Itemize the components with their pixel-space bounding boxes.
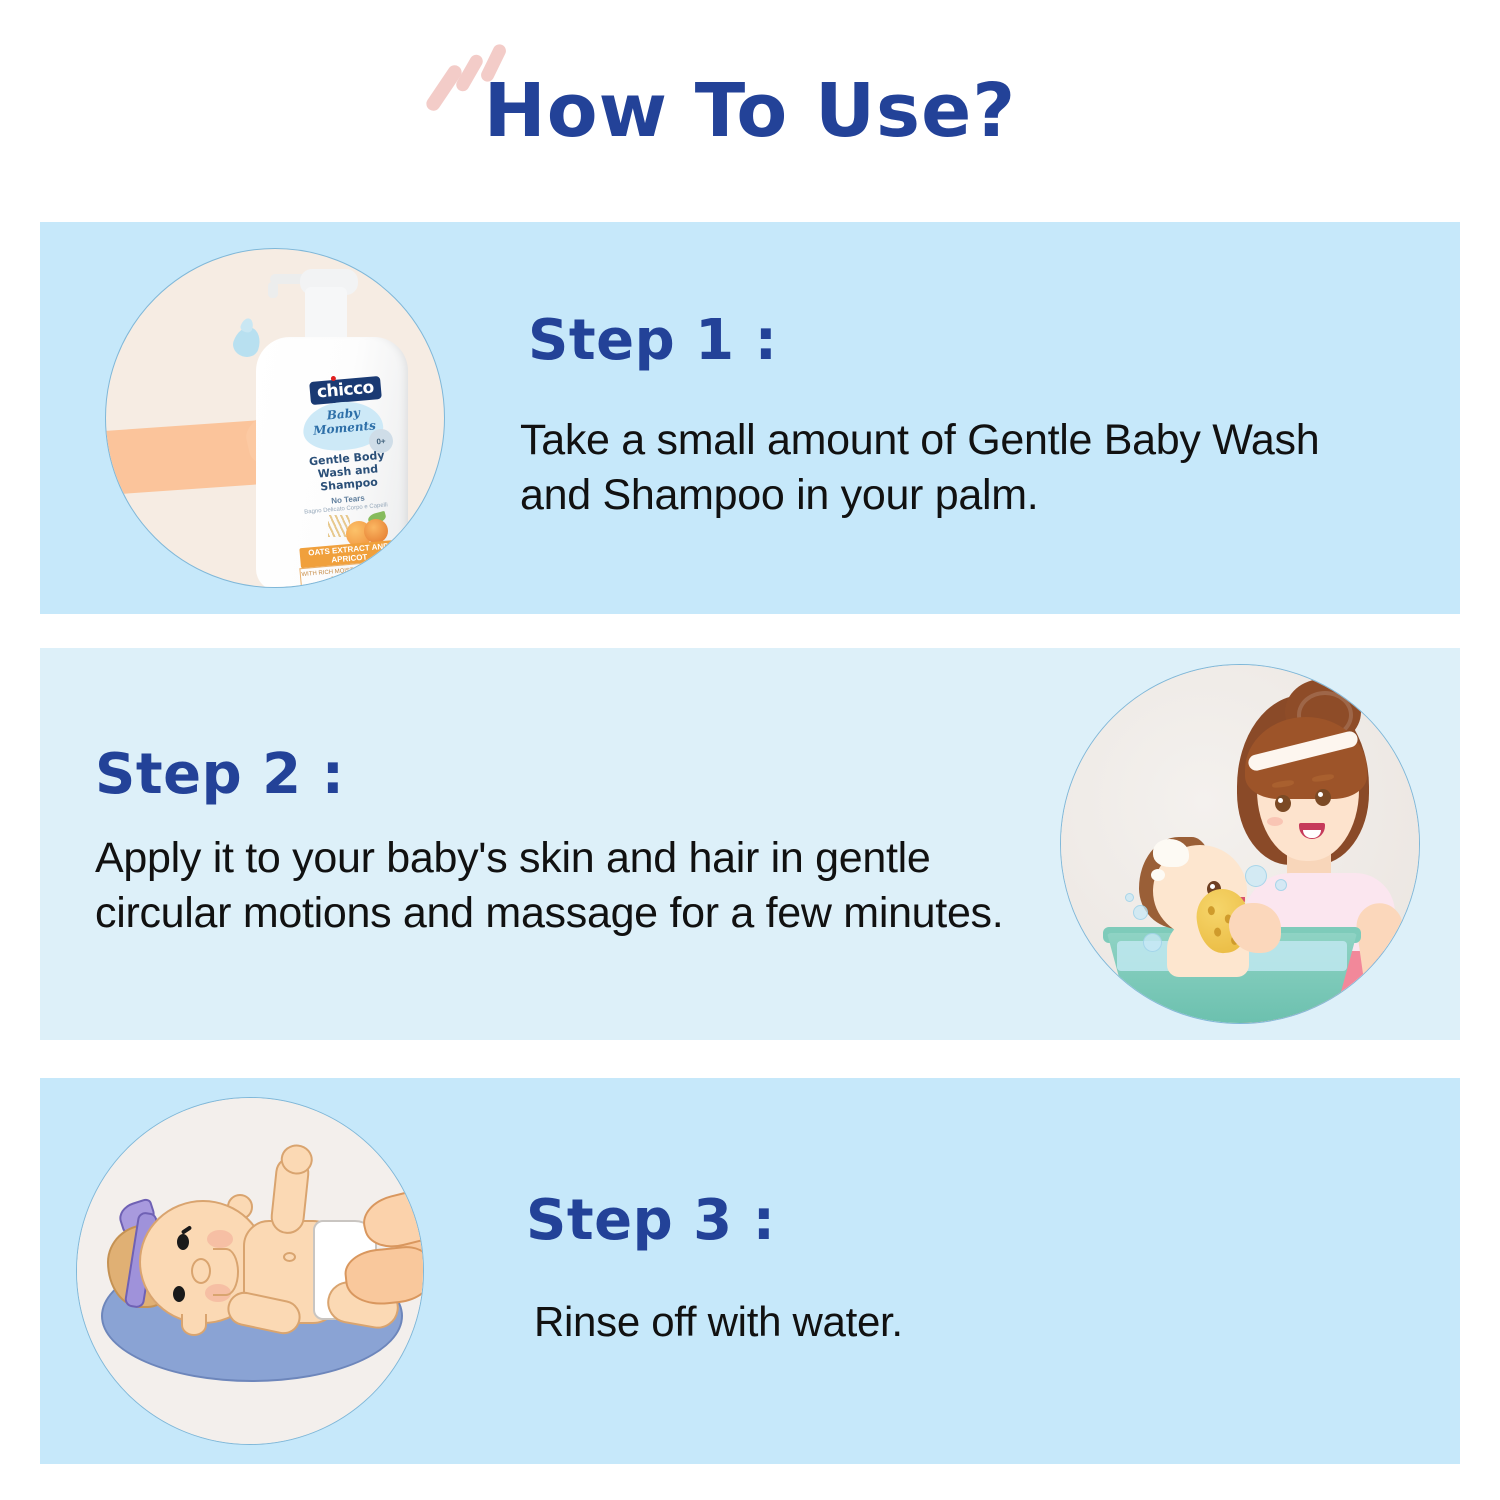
bubble-icon (1133, 905, 1148, 920)
shampoo-foam (1153, 839, 1189, 867)
step-1-media: chicco Baby Moments 0+ Gentle Body Wash … (95, 248, 455, 588)
bubble-icon (1275, 879, 1287, 891)
step-card-1: chicco Baby Moments 0+ Gentle Body Wash … (40, 222, 1460, 614)
title-area: How To Use? (0, 0, 1500, 222)
baby-cheek (207, 1230, 233, 1248)
mother-cheek (1267, 817, 1283, 826)
how-to-use-infographic: How To Use? chicco (0, 0, 1500, 1500)
step-3-media (70, 1097, 430, 1445)
step-3-description: Rinse off with water. (534, 1295, 1400, 1350)
step-2-media (1050, 664, 1430, 1024)
step-2-label: Step 2 : (95, 746, 1030, 805)
sponge-hole (1207, 906, 1215, 916)
product-name: Gentle Body Wash and Shampoo (300, 449, 395, 496)
mother-eye (1315, 789, 1331, 806)
baby-navel (283, 1252, 296, 1262)
bubble-icon (1245, 865, 1267, 887)
step-1-description: Take a small amount of Gentle Baby Wash … (520, 413, 1400, 525)
mother-eye (1275, 795, 1291, 812)
step-3-text: Step 3 : Rinse off with water. (430, 1192, 1460, 1349)
bubble-icon (1125, 893, 1134, 902)
bubble-icon (1143, 933, 1162, 952)
step-2-description: Apply it to your baby's skin and hair in… (95, 831, 1030, 943)
baby-eye (173, 1286, 185, 1302)
step-card-3: Step 3 : Rinse off with water. (40, 1078, 1460, 1464)
baby-on-mat-illustration (76, 1097, 424, 1445)
baby-chin (181, 1314, 207, 1336)
apricot-half-icon (364, 519, 388, 543)
shampoo-foam (1151, 869, 1165, 881)
product-bottle: chicco Baby Moments 0+ Gentle Body Wash … (256, 261, 408, 588)
sponge-hole (1214, 927, 1222, 937)
baby-eye (177, 1234, 189, 1250)
baby-nose (191, 1258, 211, 1284)
hand-with-pump-bottle-illustration: chicco Baby Moments 0+ Gentle Body Wash … (105, 248, 445, 588)
step-1-label: Step 1 : (528, 312, 1400, 371)
page-title: How To Use? (0, 74, 1500, 148)
baby-mouth (213, 1248, 239, 1296)
step-card-2: Step 2 : Apply it to your baby's skin an… (40, 648, 1460, 1040)
mother-bathing-baby-illustration (1060, 664, 1420, 1024)
step-3-label: Step 3 : (526, 1192, 1400, 1251)
step-2-text: Step 2 : Apply it to your baby's skin an… (40, 746, 1050, 943)
step-1-text: Step 1 : Take a small amount of Gentle B… (455, 312, 1460, 525)
